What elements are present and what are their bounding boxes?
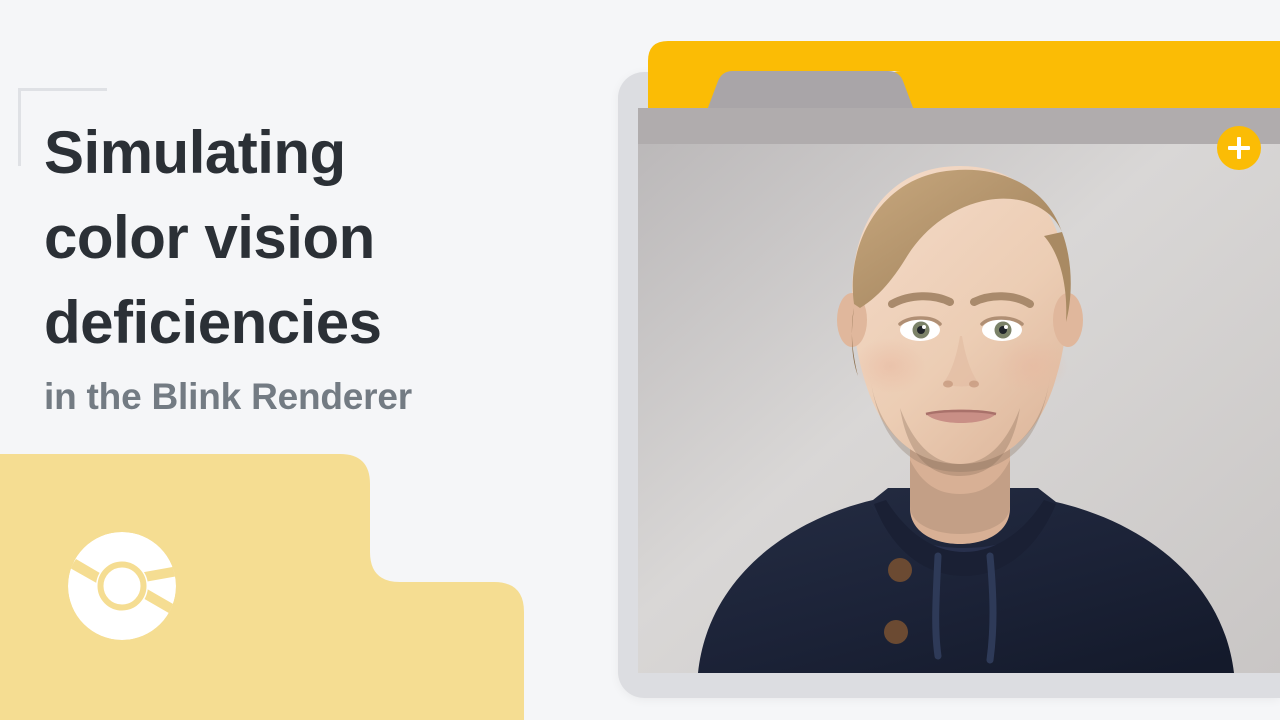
chrome-logo <box>66 530 178 642</box>
video-thumbnail[interactable] <box>638 108 1280 673</box>
slide-canvas: Simulating color vision deficiencies in … <box>0 0 1280 720</box>
page-title: Simulating color vision deficiencies <box>44 110 584 366</box>
plus-icon-vertical <box>1237 137 1242 159</box>
add-button[interactable] <box>1217 126 1261 170</box>
title-block: Simulating color vision deficiencies in … <box>44 110 584 420</box>
folder-tab <box>648 41 1280 113</box>
page-subtitle: in the Blink Renderer <box>44 374 584 420</box>
